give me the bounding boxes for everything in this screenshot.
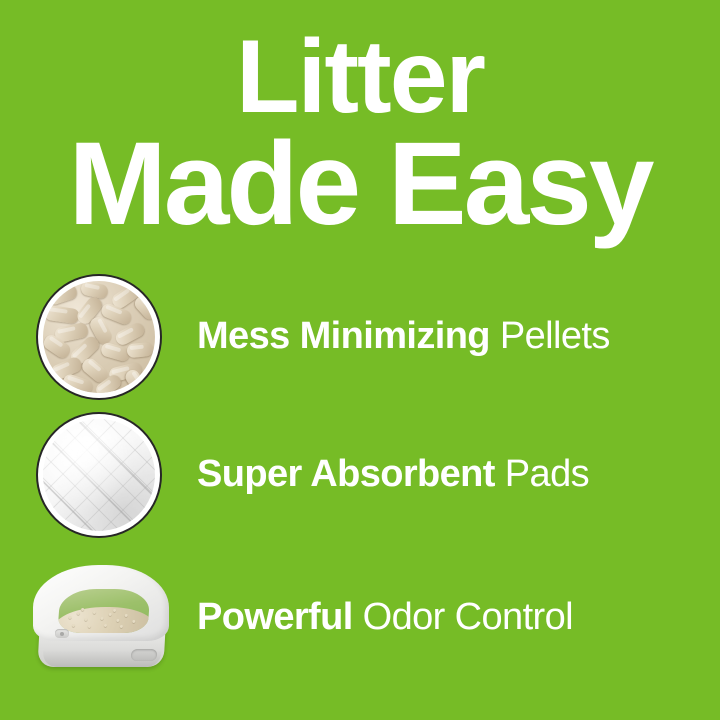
feature-label-pellets: Mess Minimizing Pellets (197, 317, 720, 357)
feature-row-pellets: Mess Minimizing Pellets (0, 270, 720, 404)
feature-label-odor-strong: Powerful (197, 596, 353, 638)
feature-label-odor: Powerful Odor Control (197, 598, 720, 638)
feature-label-odor-light: Odor Control (353, 596, 573, 638)
feature-media-pads (0, 408, 197, 542)
feature-row-odor: Powerful Odor Control (0, 550, 720, 685)
feature-label-pads-light: Pads (495, 453, 589, 495)
product-feature-poster: Litter Made Easy (0, 0, 720, 720)
headline-line-1: Litter (0, 28, 720, 128)
feature-label-pellets-light: Pellets (490, 315, 610, 357)
feature-row-pads: Super Absorbent Pads (0, 408, 720, 542)
feature-media-pellets (0, 270, 197, 404)
feature-label-pellets-strong: Mess Minimizing (197, 315, 490, 357)
feature-label-pads-strong: Super Absorbent (197, 453, 495, 495)
page-title: Litter Made Easy (0, 28, 720, 241)
litter-box-icon (33, 565, 173, 673)
feature-label-pads: Super Absorbent Pads (197, 455, 720, 495)
pellets-circle-icon (38, 276, 160, 398)
absorbent-pad-circle-icon (38, 414, 160, 536)
feature-media-litterbox (0, 551, 197, 685)
headline-line-2: Made Easy (0, 128, 720, 241)
